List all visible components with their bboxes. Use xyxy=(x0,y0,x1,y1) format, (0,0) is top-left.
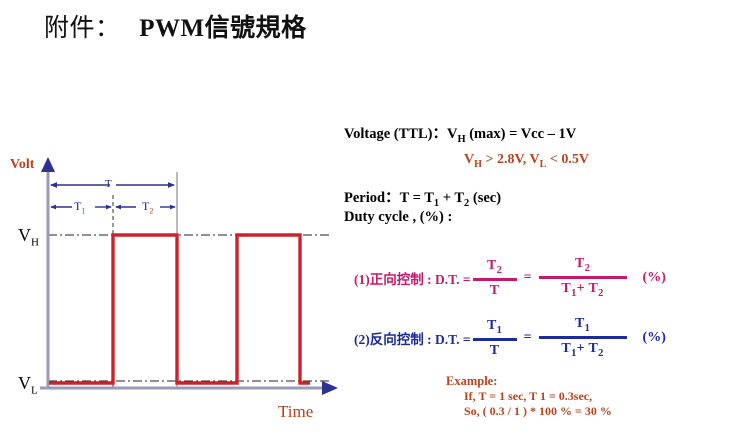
percent-unit-2: (%) xyxy=(643,330,666,346)
formula-lead-2: (2)反向控制 : D.T. = xyxy=(354,328,471,348)
example-line-2: So, ( 0.3 / 1 ) * 100 % = 30 % xyxy=(464,404,612,419)
percent-unit-1: (%) xyxy=(643,270,666,286)
duty-cycle-formula-forward: (1)正向控制 : D.T. = T2 T = T2 T1+ T2 (%) xyxy=(354,256,666,299)
example-line-1: If, T = 1 sec, T 1 = 0.3sec, xyxy=(464,389,612,404)
spec-panel: Voltage (TTL)：VH (max) = Vcc – 1V VH > 2… xyxy=(342,0,750,439)
period-spec-line: Period：T = T1 + T2 (sec) xyxy=(344,186,501,209)
fraction-t1-over-t1-plus-t2: T1 T1+ T2 xyxy=(539,316,627,359)
fraction-bar xyxy=(473,338,517,341)
formula-lead-1: (1)正向控制 : D.T. = xyxy=(354,268,471,288)
fraction-t2-over-t: T2 T xyxy=(473,258,517,298)
equals-sign-1: = xyxy=(524,270,532,286)
example-block: Example: If, T = 1 sec, T 1 = 0.3sec, So… xyxy=(446,374,612,419)
pwm-waveform-trace xyxy=(49,235,310,383)
page-title: 附件： PWM信號規格 xyxy=(44,8,307,44)
fraction-bar xyxy=(539,336,627,339)
fraction-t1-over-t: T1 T xyxy=(473,318,517,358)
duty-cycle-heading: Duty cycle , (%) : xyxy=(344,209,452,226)
waveform-svg xyxy=(0,150,350,439)
duty-cycle-formula-reverse: (2)反向控制 : D.T. = T1 T = T1 T1+ T2 (%) xyxy=(354,316,666,359)
y-axis-arrow xyxy=(41,157,55,172)
example-heading: Example: xyxy=(446,374,612,389)
x-axis-arrow xyxy=(322,381,338,395)
page-title-prefix: 附件： xyxy=(44,15,121,42)
fraction-bar xyxy=(473,278,517,281)
fraction-bar xyxy=(539,276,627,279)
fraction-t2-over-t1-plus-t2: T2 T1+ T2 xyxy=(539,256,627,299)
page-title-main: PWM信號規格 xyxy=(139,15,306,42)
voltage-spec-line: Voltage (TTL)：VH (max) = Vcc – 1V xyxy=(344,122,576,145)
pwm-waveform-chart: Volt Time VH VL T T1 T2 xyxy=(0,150,350,439)
voltage-threshold-line: VH > 2.8V, VL < 0.5V xyxy=(464,152,589,170)
equals-sign-2: = xyxy=(524,330,532,346)
